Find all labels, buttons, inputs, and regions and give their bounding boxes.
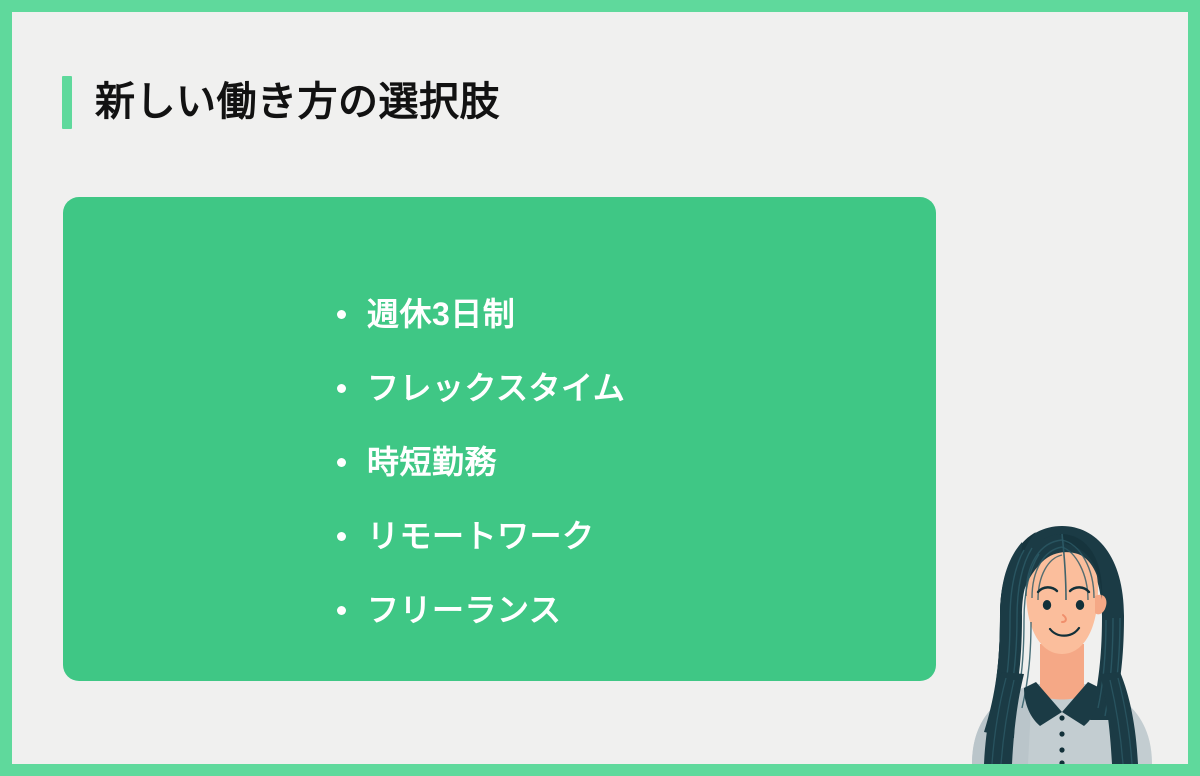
page-title: 新しい働き方の選択肢 [62, 75, 500, 129]
list-item-label: フレックスタイム [367, 372, 625, 404]
list-item: 時短勤務 [337, 425, 625, 499]
list-item: リモートワーク [337, 499, 625, 573]
woman-avatar-illustration [962, 512, 1162, 764]
slide-canvas: 新しい働き方の選択肢 週休3日制 フレックスタイム 時短勤務 [12, 12, 1188, 764]
list-item: 週休3日制 [337, 277, 625, 351]
slide-root: 新しい働き方の選択肢 週休3日制 フレックスタイム 時短勤務 [0, 0, 1200, 776]
content-card: 週休3日制 フレックスタイム 時短勤務 リモートワーク フリーランス [63, 197, 936, 681]
bullet-dot-icon [337, 310, 346, 319]
list-item-label: リモートワーク [367, 520, 595, 552]
list-item-label: 週休3日制 [367, 298, 515, 330]
list-item: フレックスタイム [337, 351, 625, 425]
page-title-text: 新しい働き方の選択肢 [95, 82, 500, 122]
bullet-dot-icon [337, 384, 346, 393]
bullet-dot-icon [337, 606, 346, 615]
list-item: フリーランス [337, 573, 625, 647]
title-accent-bar [62, 76, 72, 129]
list-item-label: フリーランス [367, 594, 561, 626]
list-item-label: 時短勤務 [367, 446, 497, 478]
bullet-dot-icon [337, 458, 346, 467]
options-list: 週休3日制 フレックスタイム 時短勤務 リモートワーク フリーランス [337, 277, 625, 647]
bullet-dot-icon [337, 532, 346, 541]
